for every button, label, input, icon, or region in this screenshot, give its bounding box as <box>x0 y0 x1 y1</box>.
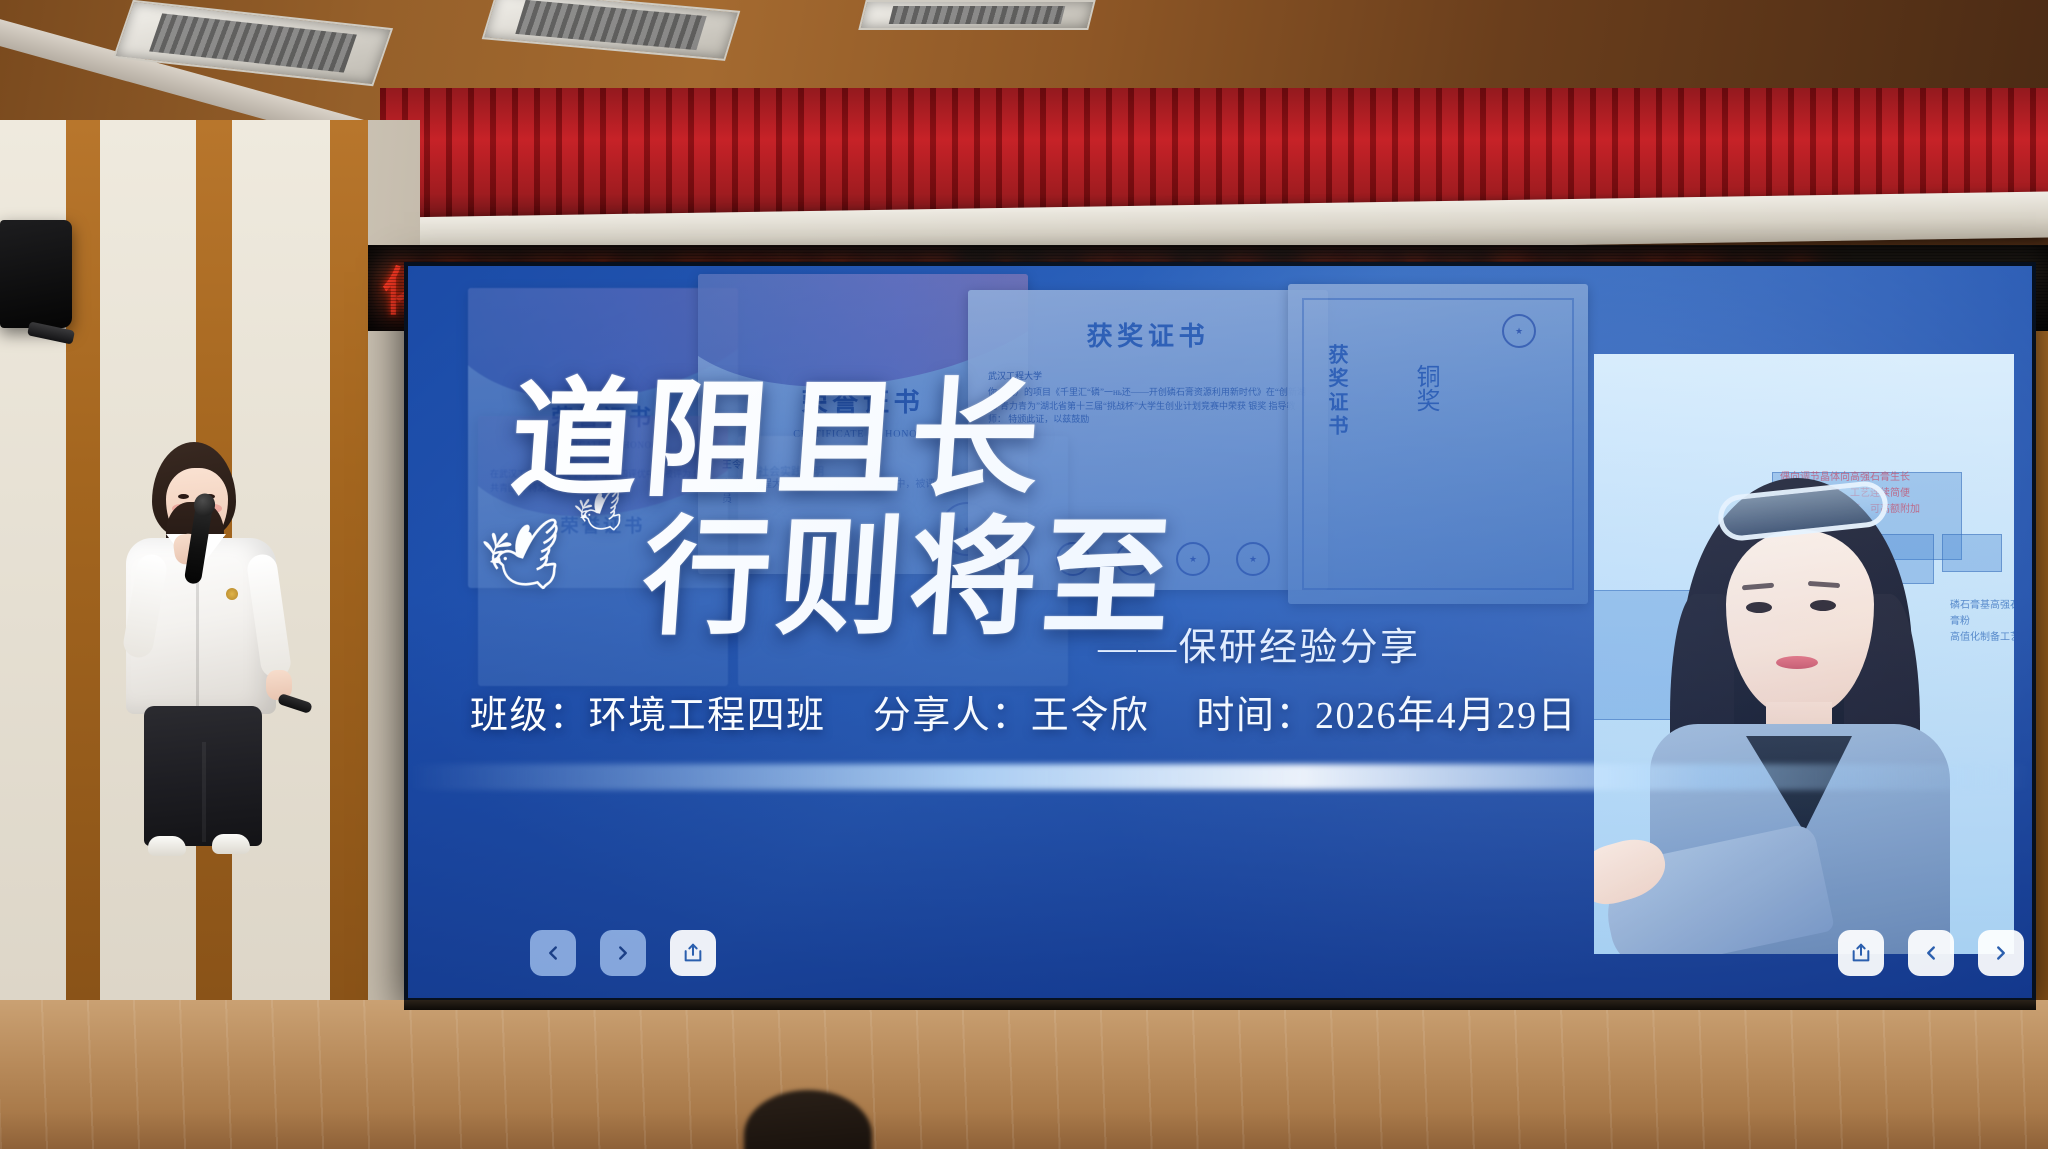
presenter-badge <box>226 588 238 600</box>
chevron-left-icon <box>542 942 564 964</box>
slide-prev-button-left[interactable] <box>530 930 576 976</box>
slide-meta-presenter: 分享人：王令欣 <box>873 695 1150 737</box>
ceiling-vent <box>858 0 1095 30</box>
presenter-shoe-left <box>148 836 186 856</box>
slide-next-button-left[interactable] <box>600 930 646 976</box>
slide-share-button-right[interactable] <box>1838 930 1884 976</box>
share-icon <box>682 942 704 964</box>
presentation-slide[interactable]: 荣誉证书 CERTIFICATE OF HONOUR 在武汉工程大学2022-2… <box>408 266 2032 998</box>
wall-mounted-loudspeaker <box>0 220 72 328</box>
screen-base-shadow <box>404 1000 2036 1010</box>
slide-meta-class: 班级：环境工程四班 <box>470 695 826 737</box>
chevron-right-icon <box>1990 942 2012 964</box>
light-streak-decoration <box>408 764 2032 790</box>
chevron-left-icon <box>1920 942 1942 964</box>
projection-screen: 荣誉证书 CERTIFICATE OF HONOUR 在武汉工程大学2022-2… <box>404 262 2036 1002</box>
slide-subtitle: ——保研经验分享 <box>1098 616 1420 671</box>
chevron-right-icon <box>612 942 634 964</box>
slide-next-button-right[interactable] <box>1978 930 2024 976</box>
wall-wood-strip <box>330 120 368 1000</box>
slide-meta-date: 时间：2026年4月29日 <box>1196 695 1577 737</box>
slide-share-button-left[interactable] <box>670 930 716 976</box>
slide-prev-button-right[interactable] <box>1908 930 1954 976</box>
auditorium-scene: 化学与环境工程学院第四届“十大榜样人物”颁奖典礼暨五四表彰大会 荣誉证书 CER… <box>0 0 2048 1149</box>
share-icon <box>1850 942 1872 964</box>
stage-floor <box>0 1000 2048 1149</box>
slide-meta-line: 班级：环境工程四班 分享人：王令欣 时间：2026年4月29日 <box>470 684 1670 739</box>
presenter-person <box>108 442 298 832</box>
presenter-shoe-right <box>212 834 250 854</box>
